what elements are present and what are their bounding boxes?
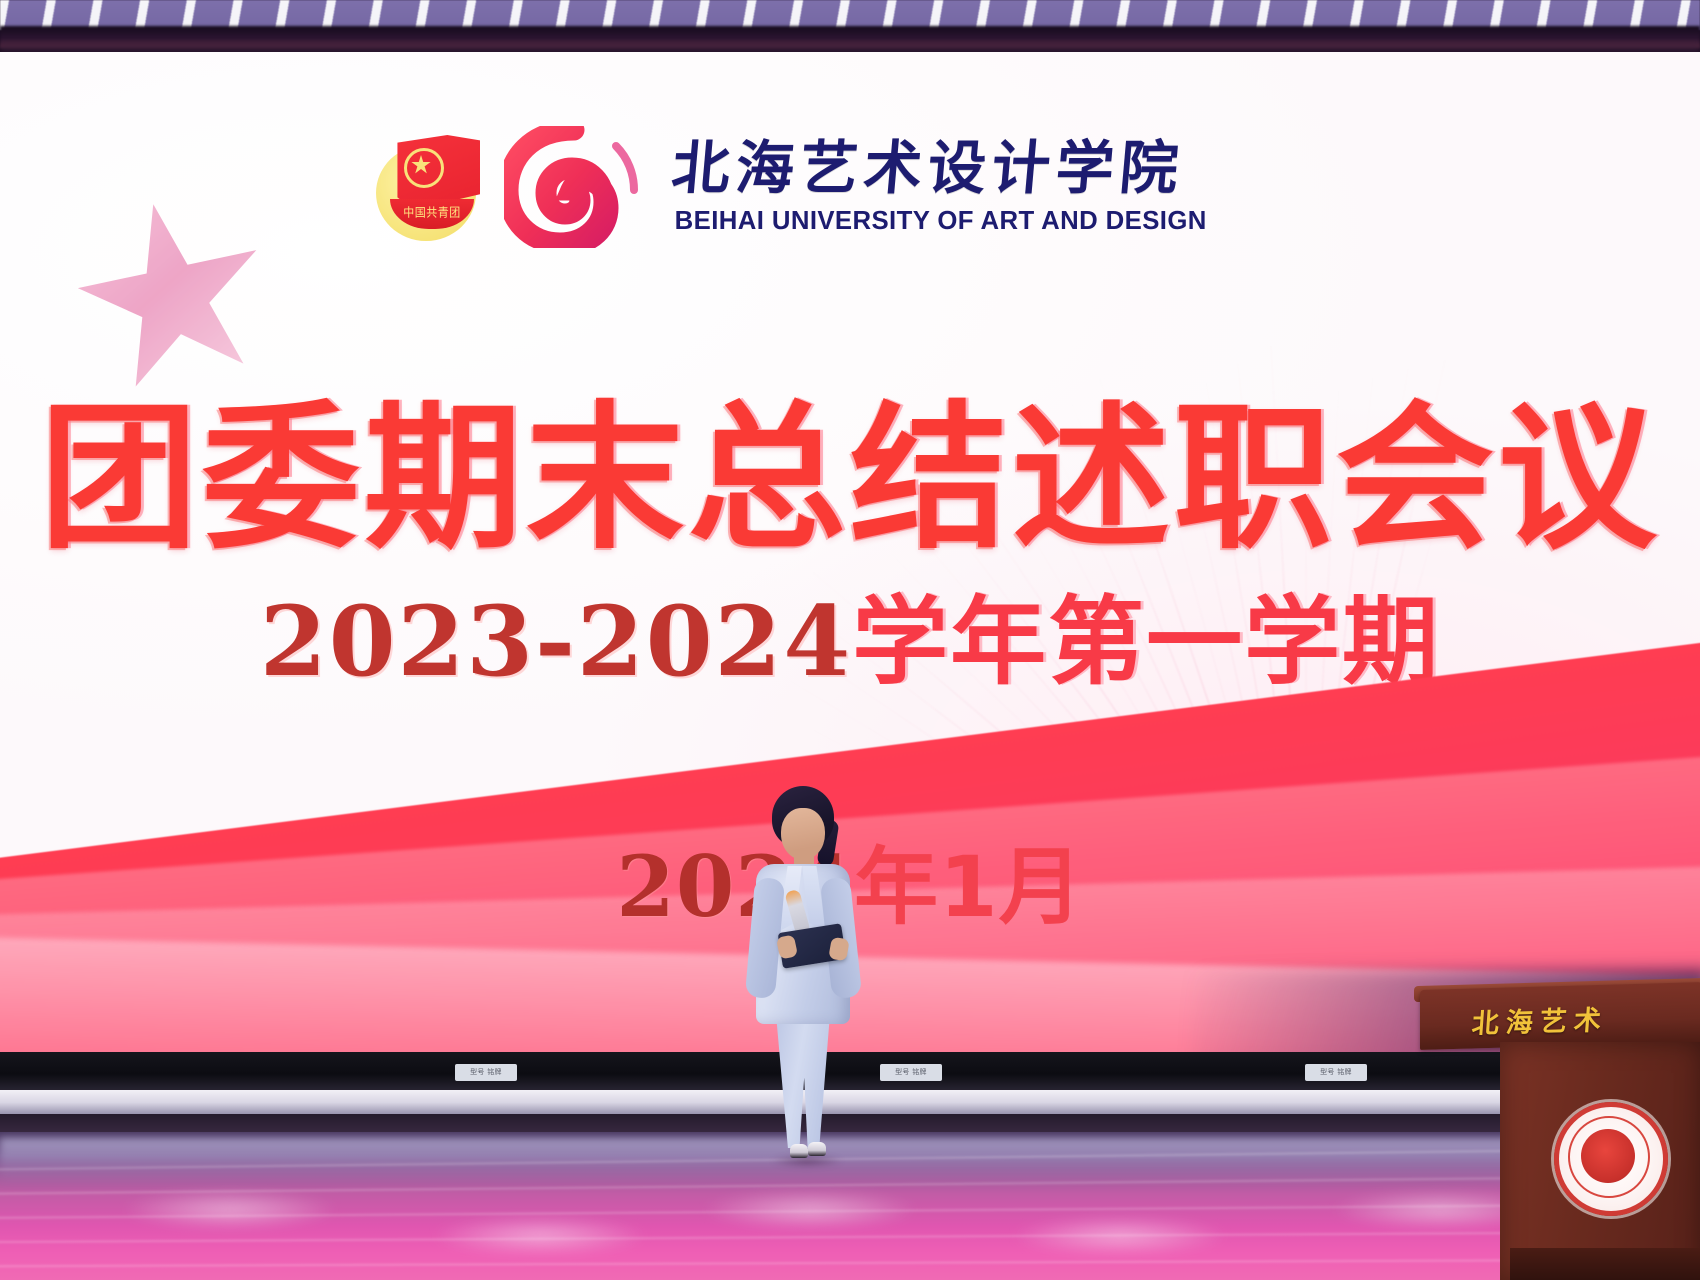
school-name-block: 北海艺术设计学院 BEIHAI UNIVERSITY OF ART AND DE…: [672, 139, 1209, 236]
podium: 北海艺术: [1402, 986, 1700, 1280]
stage-photo: 中国共青团 北海艺术设计学院: [0, 0, 1700, 1280]
emblem-banner-text: 中国共青团: [403, 206, 461, 218]
logo-lockup: 中国共青团 北海艺术设计学院: [368, 126, 1209, 248]
led-base-label: 型号 铭牌: [880, 1064, 942, 1081]
slide-main-title: 团委期末总结述职会议: [0, 400, 1700, 558]
podium-base: [1510, 1248, 1700, 1280]
school-name-en: BEIHAI UNIVERSITY OF ART AND DESIGN: [675, 205, 1207, 236]
subtitle-term: 学年第一学期: [852, 586, 1440, 698]
floor-light-reflection: [120, 1190, 340, 1230]
floor-light-reflection: [430, 1216, 650, 1256]
speaker-person: [744, 786, 862, 1166]
speaker-shoe-left: [790, 1144, 808, 1158]
led-base-label: 型号 铭牌: [455, 1064, 517, 1081]
university-seal-emblem-icon: [1554, 1102, 1668, 1216]
communist-youth-league-emblem-icon: 中国共青团: [368, 127, 488, 247]
floor-light-reflection: [1010, 1216, 1230, 1256]
seal-inner-ring: [1568, 1116, 1650, 1198]
school-name-cn: 北海艺术设计学院: [669, 139, 1211, 197]
led-base-label: 型号 铭牌: [1305, 1064, 1367, 1081]
slide-subtitle: 2023-2024学年第一学期: [0, 594, 1700, 690]
floor-light-reflection: [700, 1190, 920, 1230]
podium-gold-text: 北海艺术: [1471, 998, 1610, 1041]
speaker-shoe-right: [808, 1142, 826, 1156]
slide-date-month: 年1月: [854, 838, 1083, 936]
speaker-trousers: [774, 1018, 832, 1148]
beihai-swirl-logo-icon: [504, 126, 644, 248]
subtitle-year: 2023-2024: [260, 585, 852, 698]
pink-star-decoration: [60, 184, 285, 409]
